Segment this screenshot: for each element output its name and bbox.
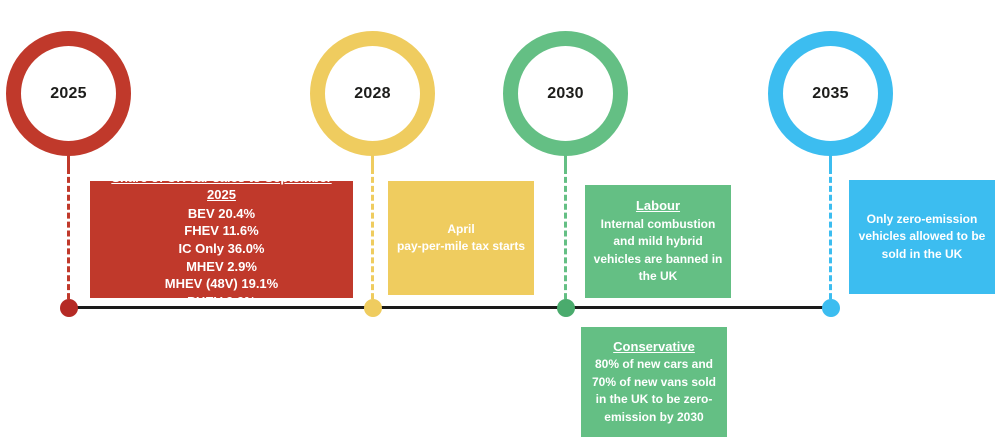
milestone-year-label: 2025	[50, 86, 86, 102]
card-line: 80% of new cars and	[595, 356, 713, 373]
milestone-year-label: 2028	[354, 86, 390, 102]
connector-stub-2035	[829, 154, 832, 168]
card-line: vehicles are banned in	[594, 251, 723, 268]
card-line: sold in the UK	[882, 246, 963, 263]
card-line: MHEV (48V) 19.1%	[165, 275, 278, 293]
connector-stub-2028	[371, 154, 374, 168]
card-sales-share[interactable]: Share of UK car sales to September 2025 …	[90, 181, 353, 298]
connector-dashed-2025	[67, 168, 70, 308]
connector-dashed-2035	[829, 168, 832, 308]
milestone-ring-2028[interactable]: 2028	[310, 31, 435, 156]
connector-stub-2030	[564, 154, 567, 168]
axis-dot-2025[interactable]	[60, 299, 78, 317]
milestone-ring-2025[interactable]: 2025	[6, 31, 131, 156]
card-line: emission by 2030	[604, 409, 703, 426]
card-line: Only zero-emission	[867, 211, 978, 228]
card-title: Share of UK car sales to September 2025	[98, 169, 345, 204]
card-line: IC Only 36.0%	[179, 240, 265, 258]
card-line: FHEV 11.6%	[184, 222, 258, 240]
milestone-year-label: 2035	[812, 86, 848, 102]
milestone-year-label: 2030	[547, 86, 583, 102]
card-line: 70% of new vans sold	[592, 374, 716, 391]
card-line: PHEV 9.9%	[187, 293, 256, 311]
connector-dashed-2028	[371, 168, 374, 308]
axis-dot-2028[interactable]	[364, 299, 382, 317]
card-pay-per-mile-tax[interactable]: April pay-per-mile tax starts	[388, 181, 534, 295]
card-labour-policy[interactable]: Labour Internal combustion and mild hybr…	[585, 185, 731, 298]
timeline-axis	[68, 306, 831, 309]
card-line: April	[447, 221, 474, 238]
card-line: in the UK to be zero-	[596, 391, 713, 408]
card-line: pay-per-mile tax starts	[397, 238, 525, 255]
axis-dot-2035[interactable]	[822, 299, 840, 317]
card-title: Labour	[636, 197, 680, 215]
card-line: MHEV 2.9%	[186, 258, 257, 276]
milestone-ring-2030[interactable]: 2030	[503, 31, 628, 156]
axis-dot-2030[interactable]	[557, 299, 575, 317]
milestone-ring-2035[interactable]: 2035	[768, 31, 893, 156]
card-line: the UK	[639, 268, 678, 285]
card-line: and mild hybrid	[613, 233, 702, 250]
card-line: Internal combustion	[601, 216, 716, 233]
card-line: BEV 20.4%	[188, 205, 255, 223]
card-title: Conservative	[613, 338, 695, 356]
connector-dashed-2030	[564, 168, 567, 308]
card-zero-emission-only[interactable]: Only zero-emission vehicles allowed to b…	[849, 180, 995, 294]
card-line: vehicles allowed to be	[859, 228, 986, 245]
card-conservative-policy[interactable]: Conservative 80% of new cars and 70% of …	[581, 327, 727, 437]
connector-stub-2025	[67, 154, 70, 168]
timeline-infographic: 2025 2028 2030 2035 Share of UK car sale…	[0, 0, 1000, 443]
